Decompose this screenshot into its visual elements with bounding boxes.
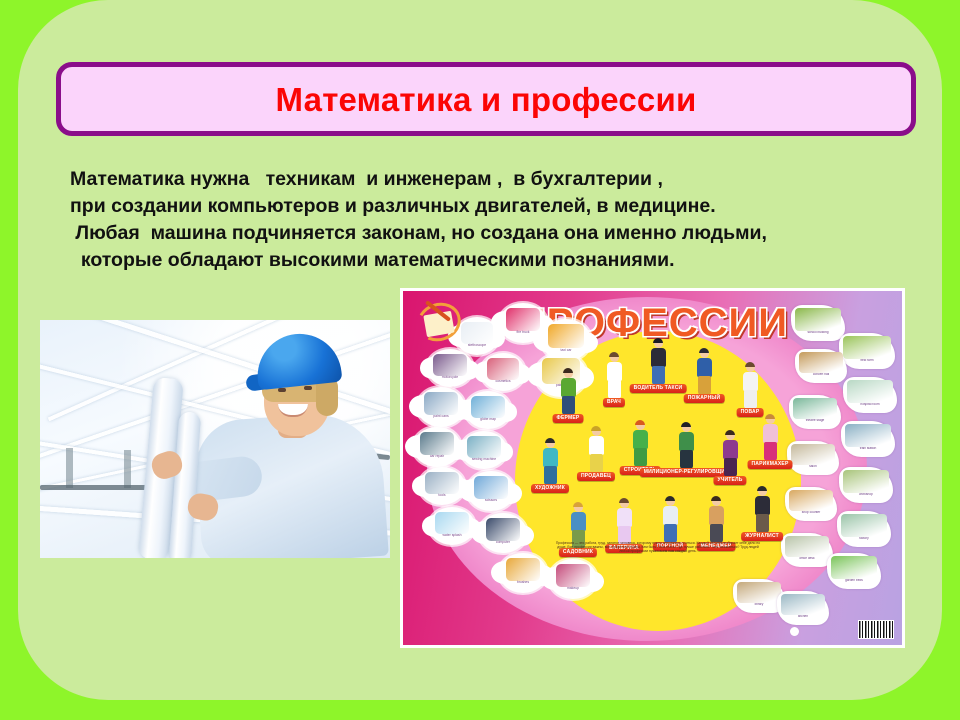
figure-torso: [723, 440, 738, 459]
concert-hall-caption: concert hall: [797, 373, 845, 381]
body-line-3: Любая машина подчиняется законам, но соз…: [70, 220, 950, 247]
figure-продавец: ПРОДАВЕЦ: [581, 427, 611, 481]
paint-cans-cloud-caption: paint cans: [420, 414, 462, 424]
water-splash-cloud: water splash: [429, 507, 475, 545]
publisher-credit: [800, 626, 854, 638]
car-repair-cloud-caption: car repair: [416, 454, 458, 464]
makeup-cloud: makeup: [549, 559, 597, 599]
figure-label: ВРАЧ: [603, 398, 625, 407]
body-line-4: которые обладают высокими математическим…: [70, 247, 950, 274]
figure-hair: [635, 420, 645, 425]
figure-label: ХУДОЖНИК: [531, 484, 569, 493]
figure-torso: [617, 508, 632, 527]
kitchen-caption: kitchen: [779, 615, 827, 623]
body-line-2: при создании компьютеров и различных дви…: [70, 193, 950, 220]
figure-torso: [651, 348, 666, 367]
train-station-caption: train station: [843, 447, 893, 456]
hospital-room-cloud: hospital room: [843, 377, 897, 413]
theatre-stage-cloud: theatre stage: [789, 395, 841, 429]
figure-hair: [665, 496, 675, 501]
taxi-car-cloud-caption: taxi car: [544, 348, 588, 359]
garden-beds-cloud: garden beds: [827, 553, 881, 589]
office-desk-cloud: office desk: [781, 533, 833, 567]
figure-legs: [724, 458, 737, 477]
makeup-cloud-thumb: [556, 564, 591, 587]
figure-legs: [744, 390, 757, 409]
figure-legs: [764, 442, 777, 461]
hospital-room-caption: hospital room: [845, 403, 895, 412]
motorcycle-cloud: motorcycle: [427, 349, 473, 387]
figure-label: ПАРИКМАХЕР: [748, 460, 793, 469]
figure-hair: [681, 422, 691, 427]
sewing-machine-cloud: sewing machine: [461, 431, 507, 469]
factory-cloud: factory: [837, 511, 891, 547]
body-line-1: Математика нужна техникам и инженерам , …: [70, 166, 950, 193]
figure-legs: [544, 466, 557, 485]
kitchen-cloud: kitchen: [777, 591, 829, 625]
figure-hair: [653, 338, 663, 343]
figure-legs: [652, 366, 665, 385]
train-station-cloud: train station: [841, 421, 895, 457]
office-desk-caption: office desk: [783, 557, 831, 565]
stethoscope-cloud-caption: stethoscope: [458, 343, 497, 353]
tools-cloud-thumb: [425, 472, 458, 494]
figure-hair: [609, 352, 619, 357]
sewing-machine-cloud-thumb: [467, 436, 500, 458]
shop-counter-caption: shop counter: [787, 511, 835, 519]
figure-фермер: ФЕРМЕР: [553, 369, 583, 423]
salon-image: [791, 444, 835, 466]
hospital-room-image: [847, 380, 892, 403]
figure-hair: [699, 348, 709, 353]
theatre-stage-caption: theatre stage: [791, 419, 839, 427]
engineer-woman-photo: [40, 320, 390, 558]
figure-torso: [697, 358, 712, 377]
figure-hair: [573, 502, 583, 507]
garden-beds-image: [831, 556, 876, 579]
globe-map-cloud-thumb: [471, 396, 504, 418]
figure-label: ВОДИТЕЛЬ ТАКСИ: [630, 384, 687, 393]
woman-eye: [278, 388, 286, 392]
figure-журналист: ЖУРНАЛИСТ: [747, 487, 777, 541]
figure-hair: [619, 498, 629, 503]
blue-hard-hat-icon: [254, 330, 343, 390]
figure-hair: [591, 426, 601, 431]
factory-image: [841, 514, 886, 537]
figure-legs: [562, 396, 575, 415]
shop-counter-image: [789, 490, 833, 512]
slide-root: Математика и профессии Математика нужна …: [0, 0, 960, 720]
figure-повар: ПОВАР: [735, 363, 765, 417]
water-splash-cloud-thumb: [435, 512, 468, 534]
scissors-cloud: scissors: [467, 471, 515, 511]
figure-legs: [608, 380, 621, 399]
field-farm-image: [843, 336, 890, 359]
workshop-caption: workshop: [841, 493, 891, 502]
garden-beds-caption: garden beds: [829, 579, 879, 588]
concert-hall-cloud: concert hall: [795, 349, 847, 383]
cosmetics-cloud: cosmetics: [481, 353, 525, 391]
figure-hair: [745, 362, 755, 367]
salon-cloud: salon: [787, 441, 839, 475]
figure-hair: [765, 414, 775, 419]
tools-cloud: tools: [419, 467, 465, 505]
brushes-cloud: brushes: [499, 553, 547, 593]
figure-hair: [563, 368, 573, 373]
figure-художник: ХУДОЖНИК: [535, 439, 565, 493]
body-paragraph: Математика нужна техникам и инженерам , …: [70, 166, 950, 274]
figure-милиционер-регулировщик: МИЛИЦИОНЕР-РЕГУЛИРОВЩИК: [671, 423, 701, 477]
theatre-stage-image: [793, 398, 837, 420]
figure-label: ПОЖАРНЫЙ: [684, 394, 725, 403]
workshop-image: [843, 470, 888, 493]
stethoscope-cloud-thumb: [461, 322, 493, 344]
taxi-car-cloud-thumb: [548, 324, 584, 348]
figure-парикмахер: ПАРИКМАХЕР: [755, 415, 785, 469]
motorcycle-cloud-caption: motorcycle: [430, 375, 471, 385]
globe-map-cloud: globe map: [465, 391, 511, 429]
makeup-cloud-caption: makeup: [552, 586, 594, 596]
figure-torso: [679, 432, 694, 451]
factory-caption: factory: [839, 537, 889, 546]
water-splash-cloud-caption: water splash: [432, 533, 473, 543]
car-repair-cloud-thumb: [420, 432, 455, 455]
barcode-icon: [858, 620, 894, 639]
cosmetics-cloud-thumb: [487, 358, 519, 380]
library-caption: library: [735, 603, 783, 611]
figure-torso: [755, 496, 770, 515]
figure-учитель: УЧИТЕЛЬ: [715, 431, 745, 485]
figure-torso: [561, 378, 576, 397]
figure-legs: [680, 450, 693, 469]
figure-hair: [757, 486, 767, 491]
figure-водитель-такси: ВОДИТЕЛЬ ТАКСИ: [643, 339, 673, 393]
photo-background: [40, 320, 390, 558]
car-repair-cloud: car repair: [413, 427, 461, 467]
roof-pillar: [124, 450, 131, 488]
scissors-cloud-caption: scissors: [470, 498, 512, 508]
figure-legs: [756, 514, 769, 533]
workshop-cloud: workshop: [839, 467, 893, 503]
figure-label: УЧИТЕЛЬ: [713, 476, 746, 485]
figure-врач: ВРАЧ: [599, 353, 629, 407]
field-farm-caption: field farm: [841, 359, 893, 368]
kitchen-image: [781, 594, 825, 616]
publisher-dot-icon: [790, 627, 799, 636]
publisher-logo-icon: [417, 303, 461, 341]
poster-footer-text: Профессия — это работа, труд, занятие че…: [553, 541, 763, 554]
train-station-image: [845, 424, 890, 447]
figure-torso: [607, 362, 622, 381]
school-building-cloud: school building: [791, 305, 845, 341]
figure-torso: [543, 448, 558, 467]
figure-torso: [743, 372, 758, 391]
fire-truck-cloud: fire truck: [499, 303, 547, 343]
woman-eye: [304, 386, 312, 390]
paint-cans-cloud: paint cans: [417, 387, 465, 427]
figure-строитель: СТРОИТЕЛЬ: [625, 421, 655, 475]
computer-cloud: computer: [479, 513, 527, 553]
figure-пожарный: ПОЖАРНЫЙ: [689, 349, 719, 403]
computer-cloud-caption: computer: [482, 540, 524, 550]
brushes-cloud-caption: brushes: [502, 580, 544, 590]
figure-hair: [711, 496, 721, 501]
school-building-image: [795, 308, 840, 331]
paint-cans-cloud-thumb: [424, 392, 459, 415]
figure-torso: [663, 506, 678, 525]
concert-hall-image: [799, 352, 843, 374]
shop-counter-cloud: shop counter: [785, 487, 837, 521]
figure-torso: [633, 430, 648, 449]
roof-pillar: [66, 448, 73, 488]
figure-torso: [571, 512, 586, 531]
cosmetics-cloud-caption: cosmetics: [484, 379, 523, 389]
figure-legs: [590, 454, 603, 473]
figure-torso: [589, 436, 604, 455]
globe-map-cloud-caption: globe map: [468, 417, 509, 427]
page-title: Математика и профессии: [276, 83, 697, 116]
figure-hair: [725, 430, 735, 435]
sewing-machine-cloud-caption: sewing machine: [464, 457, 505, 467]
school-building-caption: school building: [793, 331, 843, 340]
title-box: Математика и профессии: [56, 62, 916, 136]
figure-legs: [698, 376, 711, 395]
professions-poster: ПРОФЕССИИ stethoscopefire trucktaxi carm…: [400, 288, 905, 648]
figure-torso: [709, 506, 724, 525]
motorcycle-cloud-thumb: [433, 354, 466, 376]
library-image: [737, 582, 781, 604]
computer-cloud-thumb: [486, 518, 521, 541]
office-desk-image: [785, 536, 829, 558]
figure-hair: [545, 438, 555, 443]
field-farm-cloud: field farm: [839, 333, 895, 369]
fire-truck-cloud-caption: fire truck: [502, 330, 544, 340]
scissors-cloud-thumb: [474, 476, 509, 499]
figure-label: ПРОДАВЕЦ: [577, 472, 615, 481]
figure-label: ФЕРМЕР: [553, 414, 584, 423]
figure-label: ЖУРНАЛИСТ: [741, 532, 783, 541]
figure-torso: [763, 424, 778, 443]
tools-cloud-caption: tools: [422, 493, 463, 503]
salon-caption: salon: [789, 465, 837, 473]
fire-truck-cloud-thumb: [506, 308, 541, 331]
taxi-car-cloud: taxi car: [541, 319, 591, 361]
figure-legs: [634, 448, 647, 467]
brushes-cloud-thumb: [506, 558, 541, 581]
